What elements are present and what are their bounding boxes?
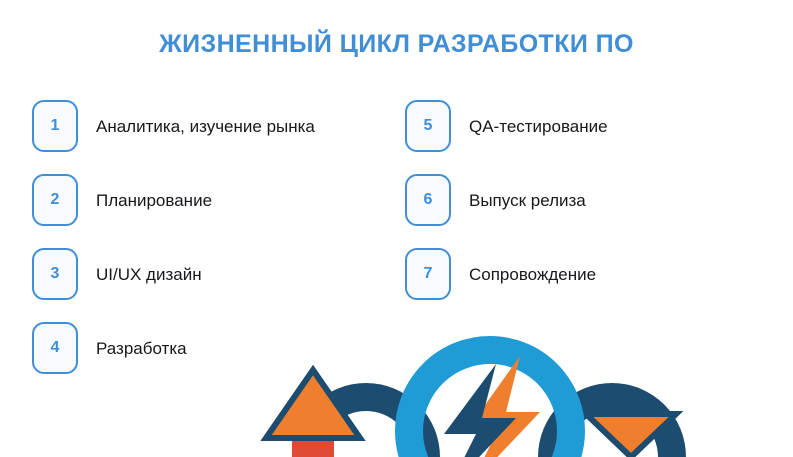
infographic-page: ЖИЗНЕННЫЙ ЦИКЛ РАЗРАБОТКИ ПО 1 Аналитика… (0, 0, 793, 457)
step-label-4: Разработка (96, 340, 187, 357)
page-title: ЖИЗНЕННЫЙ ЦИКЛ РАЗРАБОТКИ ПО (0, 30, 793, 59)
step-item-1[interactable]: 1 Аналитика, изучение рынка (32, 100, 315, 152)
step-number-badge-1: 1 (32, 100, 78, 152)
step-number-3: 3 (51, 266, 60, 282)
step-label-6: Выпуск релиза (469, 192, 586, 209)
step-label-1: Аналитика, изучение рынка (96, 118, 315, 135)
step-item-6[interactable]: 6 Выпуск релиза (405, 174, 608, 226)
step-number-7: 7 (424, 266, 433, 282)
step-number-1: 1 (51, 118, 60, 134)
steps-right-column: 5 QA-тестирование 6 Выпуск релиза 7 Сопр… (405, 100, 608, 322)
step-number-5: 5 (424, 118, 433, 134)
step-label-3: UI/UX дизайн (96, 266, 202, 283)
step-number-badge-6: 6 (405, 174, 451, 226)
step-number-badge-3: 3 (32, 248, 78, 300)
step-number-badge-5: 5 (405, 100, 451, 152)
step-number-6: 6 (424, 192, 433, 208)
step-number-badge-7: 7 (405, 248, 451, 300)
step-item-3[interactable]: 3 UI/UX дизайн (32, 248, 315, 300)
step-number-badge-4: 4 (32, 322, 78, 374)
step-item-2[interactable]: 2 Планирование (32, 174, 315, 226)
step-item-5[interactable]: 5 QA-тестирование (405, 100, 608, 152)
step-label-7: Сопровождение (469, 266, 596, 283)
step-item-7[interactable]: 7 Сопровождение (405, 248, 608, 300)
step-label-5: QA-тестирование (469, 118, 608, 135)
step-number-4: 4 (51, 340, 60, 356)
step-number-2: 2 (51, 192, 60, 208)
step-label-2: Планирование (96, 192, 212, 209)
step-number-badge-2: 2 (32, 174, 78, 226)
software-lifecycle-cycle-illustration (248, 318, 730, 457)
